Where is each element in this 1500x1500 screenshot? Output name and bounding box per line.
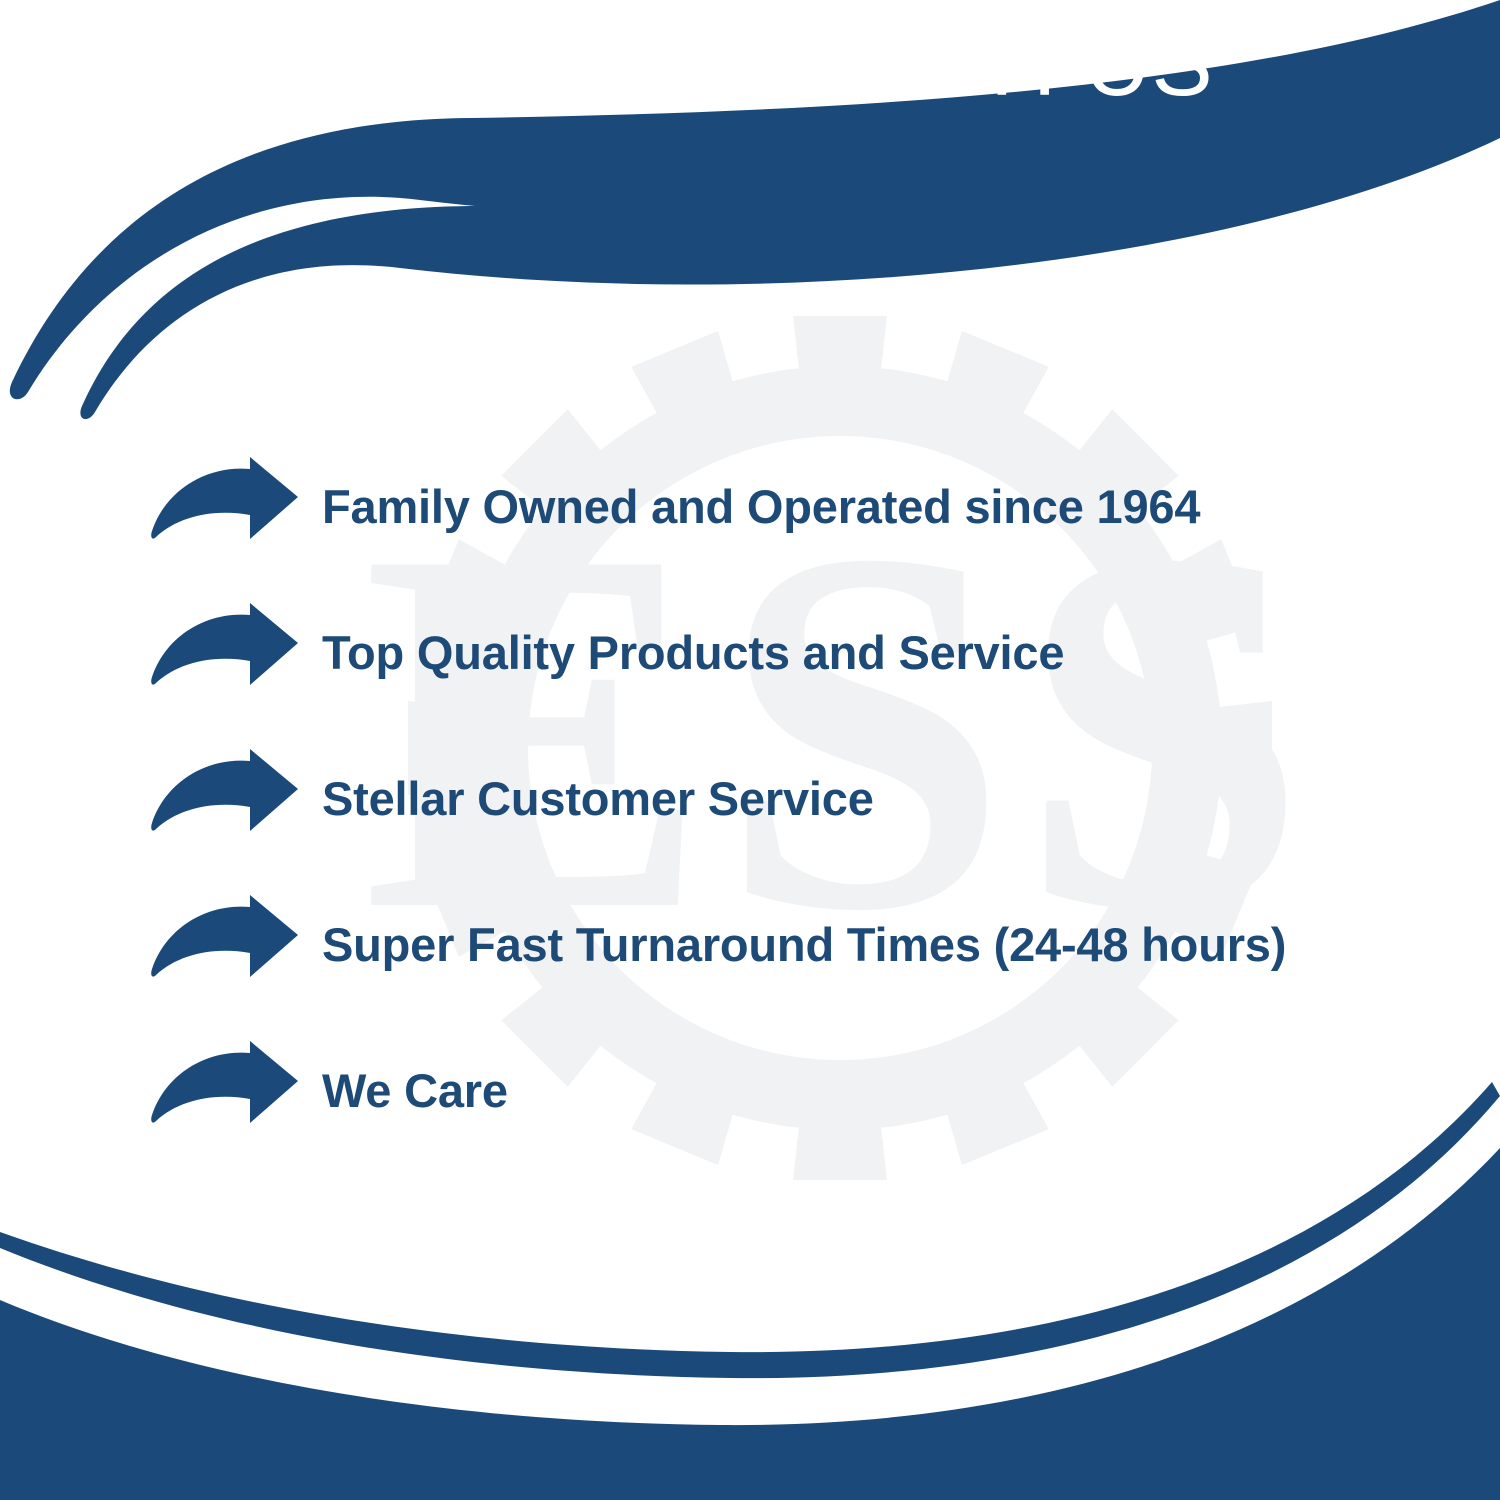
- list-item: Top Quality Products and Service: [150, 578, 1450, 724]
- list-item: Family Owned and Operated since 1964: [150, 432, 1450, 578]
- why-shop-with-us-poster: ESS WHY SHOP WITH US Family Owned and Op…: [0, 0, 1500, 1500]
- header-swoosh-shape: [80, 108, 1500, 419]
- list-item: We Care: [150, 1016, 1450, 1162]
- list-item-label: Top Quality Products and Service: [322, 627, 1450, 679]
- benefits-list: Family Owned and Operated since 1964 Top…: [150, 432, 1450, 1162]
- page-title: WHY SHOP WITH US: [0, 16, 1500, 113]
- curved-arrow-right-icon: [150, 603, 300, 699]
- list-item-label: Super Fast Turnaround Times (24-48 hours…: [322, 919, 1450, 971]
- list-item: Super Fast Turnaround Times (24-48 hours…: [150, 870, 1450, 1016]
- footer-wave-shape: [0, 1148, 1500, 1500]
- curved-arrow-right-icon: [150, 457, 300, 553]
- curved-arrow-right-icon: [150, 749, 300, 845]
- list-item-label: We Care: [322, 1065, 1450, 1117]
- list-item-label: Family Owned and Operated since 1964: [322, 481, 1450, 533]
- curved-arrow-right-icon: [150, 1041, 300, 1137]
- curved-arrow-right-icon: [150, 895, 300, 991]
- list-item: Stellar Customer Service: [150, 724, 1450, 870]
- list-item-label: Stellar Customer Service: [322, 773, 1450, 825]
